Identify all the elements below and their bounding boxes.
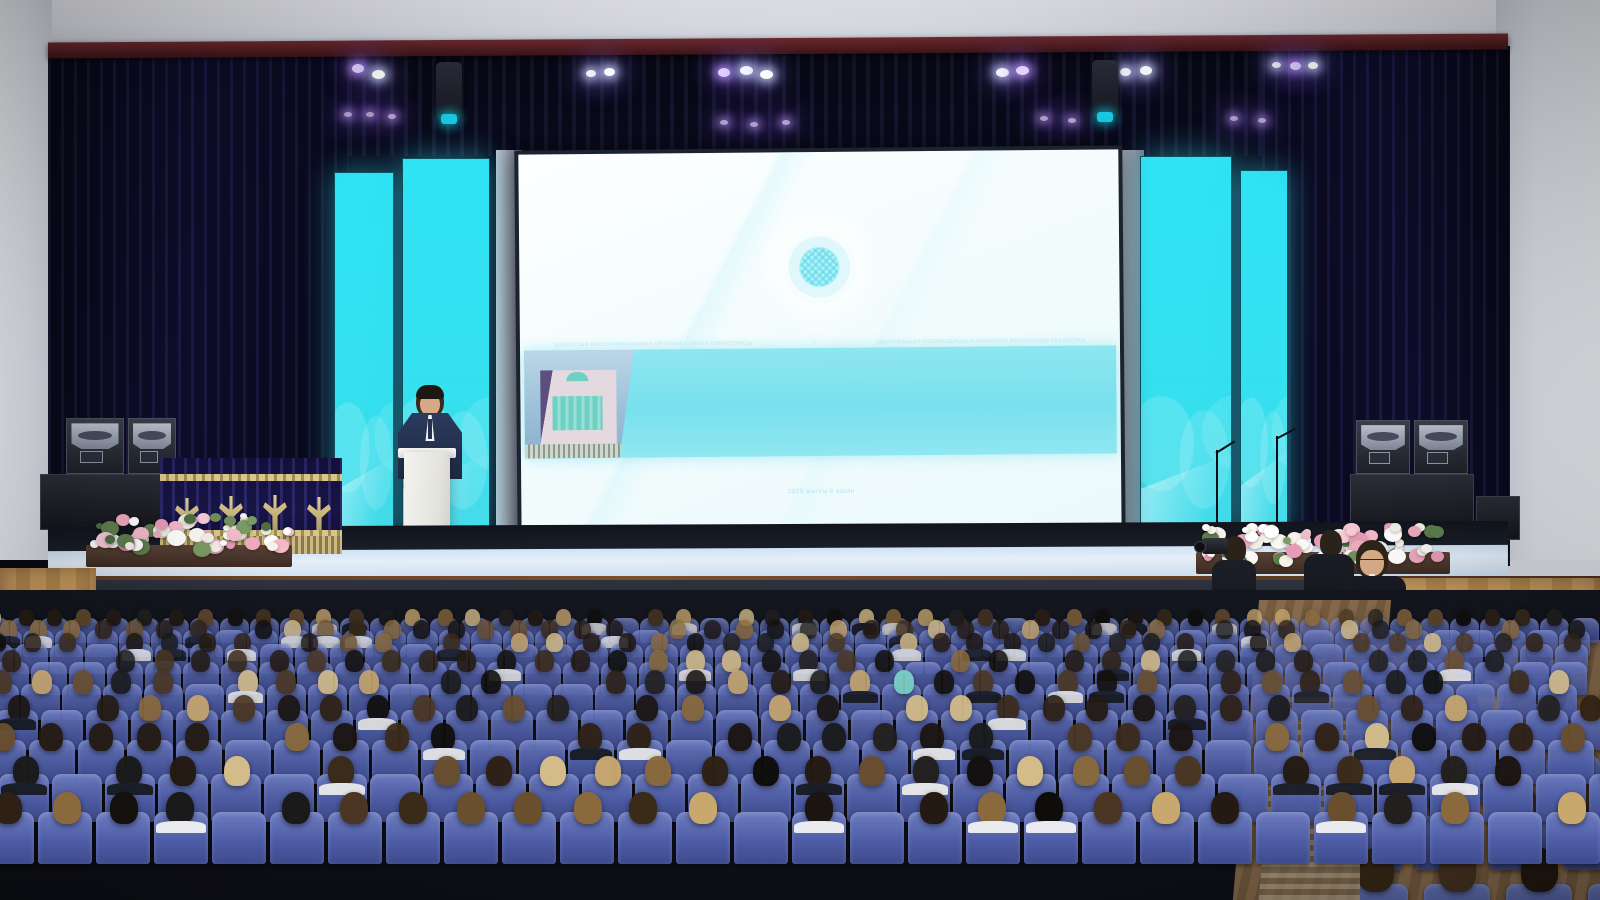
- foliage: [105, 535, 115, 544]
- audience-member-head: [282, 792, 310, 824]
- theater-seat[interactable]: [212, 812, 266, 864]
- flower: [125, 542, 134, 550]
- foliage: [1283, 537, 1291, 544]
- stage-light: [760, 70, 773, 79]
- audience-member-head: [805, 792, 833, 824]
- stage-light-secondary: [750, 122, 758, 127]
- pa-horn-icon: [1361, 425, 1405, 450]
- stage-light-secondary: [344, 112, 352, 117]
- presentation-slide: ҚАЗАҚСТАН РЕСПУБЛИКАСЫНЫҢ ОРТАЛЫҚ САЙЛАУ…: [518, 149, 1121, 544]
- audience-member-head: [514, 792, 542, 824]
- audience-member-head: [1441, 792, 1469, 824]
- flower: [227, 529, 241, 541]
- building-glass: [552, 396, 602, 430]
- stage-light: [1140, 66, 1152, 75]
- presenter-tie: [428, 419, 432, 439]
- audience-member-head: [340, 792, 368, 824]
- main-projection-screen: ҚАЗАҚСТАН РЕСПУБЛИКАСЫНЫҢ ОРТАЛЫҚ САЙЛАУ…: [514, 145, 1125, 550]
- audience-member-head: [399, 792, 427, 824]
- flower: [153, 531, 161, 538]
- flower: [167, 530, 186, 546]
- stage-curtain-valance: [348, 46, 1262, 156]
- foliage: [210, 513, 221, 522]
- stage-light-secondary: [782, 120, 790, 125]
- flower: [1421, 544, 1432, 553]
- building-dome: [566, 372, 588, 381]
- stage-light: [740, 66, 753, 75]
- flower: [283, 528, 291, 535]
- stage-light-secondary: [1230, 116, 1238, 121]
- led-panel-right-inner: [1140, 156, 1232, 540]
- stage-light-secondary: [1068, 118, 1076, 123]
- stage-light: [1016, 66, 1029, 75]
- flower: [1408, 526, 1421, 537]
- flower: [1264, 525, 1279, 538]
- stage-light: [372, 70, 385, 79]
- cec-building-photo: [524, 350, 635, 459]
- right-wall: [1496, 0, 1600, 580]
- audience-member-shoulders: [156, 821, 206, 833]
- audience-member-head: [166, 792, 194, 824]
- stage-light-secondary: [366, 112, 374, 117]
- stage-light: [604, 68, 615, 76]
- audience-member-head: [629, 792, 657, 824]
- audience-seating-area: [0, 590, 1600, 900]
- pa-port: [140, 451, 158, 463]
- moving-head-light-fixture: [1092, 60, 1118, 118]
- eyeglasses-icon: [1359, 559, 1385, 562]
- theater-seat[interactable]: [850, 812, 904, 864]
- flower: [129, 517, 139, 526]
- pa-port: [80, 451, 102, 463]
- stage-light: [352, 64, 364, 73]
- moving-head-light-fixture: [436, 62, 462, 120]
- audience-member-shoulders: [794, 821, 844, 833]
- flower: [155, 519, 168, 530]
- flower: [1431, 551, 1444, 562]
- stage-light: [1272, 62, 1281, 68]
- foliage: [247, 516, 257, 525]
- stage-light-secondary: [720, 120, 728, 125]
- audience-member-head: [689, 792, 717, 824]
- audience-member-head: [1211, 792, 1239, 824]
- audience-member-shoulders: [1026, 821, 1076, 833]
- man-glasses-face: [1360, 550, 1384, 576]
- kazakhstan-state-emblem-icon: [782, 230, 857, 305]
- led-panel-right-outer: [1240, 170, 1288, 534]
- audience-row: [0, 778, 1600, 870]
- camcorder-icon: [1202, 538, 1228, 554]
- pa-speaker-right-1: [1356, 420, 1410, 474]
- foliage: [184, 514, 196, 524]
- flower: [220, 540, 227, 546]
- building-fence: [525, 444, 635, 459]
- slide-header-separator: •: [814, 340, 816, 346]
- theater-seat[interactable]: [1256, 812, 1310, 864]
- audience-member-head: [1384, 792, 1412, 824]
- foliage: [261, 522, 271, 531]
- stage-light: [996, 68, 1009, 77]
- presenter-hair: [416, 385, 444, 399]
- audience-member-head: [1152, 792, 1180, 824]
- flower: [197, 513, 210, 524]
- flower: [226, 541, 235, 549]
- stage-light-secondary: [1258, 118, 1266, 123]
- pa-horn-icon: [71, 423, 118, 449]
- audience-member-head: [574, 792, 602, 824]
- pa-horn-icon: [1419, 425, 1463, 450]
- stage-light-secondary: [1040, 116, 1048, 121]
- stage-light: [1290, 62, 1301, 70]
- gold-braid-trim: [160, 474, 342, 481]
- audience-member-head: [0, 792, 22, 824]
- audience-member-shoulders: [1316, 821, 1366, 833]
- pa-horn-icon: [133, 423, 172, 449]
- audience-member-head: [1094, 792, 1122, 824]
- flower: [240, 513, 247, 519]
- stage-light: [718, 68, 730, 77]
- audience-member-head: [457, 792, 485, 824]
- audience-member-head: [110, 792, 138, 824]
- slide-title-band: ҚР ОСК ТӨРАҒАСЫ ЗАҢ ҒЫЛЫМДАРЫНЫҢ ДОКТОРЫ…: [524, 345, 1117, 458]
- audience-member-head: [1328, 792, 1356, 824]
- conference-hall-photo: ҚАЗАҚСТАН РЕСПУБЛИКАСЫНЫҢ ОРТАЛЫҚ САЙЛАУ…: [0, 0, 1600, 900]
- audience-member-head: [1558, 792, 1586, 824]
- flower: [267, 542, 278, 551]
- audience-member-head: [978, 792, 1006, 824]
- theater-seat[interactable]: [1488, 812, 1542, 864]
- audience-member-shoulders: [968, 821, 1018, 833]
- foliage: [224, 516, 236, 526]
- pa-port: [1427, 452, 1448, 463]
- foliage: [1430, 526, 1444, 538]
- pa-port: [1369, 452, 1390, 463]
- audience-member-head: [53, 792, 81, 824]
- stage-light-secondary: [388, 114, 396, 119]
- stage-light: [1120, 68, 1131, 76]
- audience-member-head: [1035, 792, 1063, 824]
- audience-member-head: [920, 792, 948, 824]
- flower-arrangement-left: [84, 512, 298, 554]
- flower: [116, 514, 130, 526]
- theater-seat[interactable]: [734, 812, 788, 864]
- theater-seat[interactable]: [1588, 884, 1600, 900]
- pa-speaker-left-1: [66, 418, 124, 474]
- flower: [245, 537, 260, 550]
- foliage: [193, 542, 211, 557]
- stage-light: [1308, 62, 1318, 69]
- pa-speaker-right-2: [1414, 420, 1468, 474]
- stage-light: [586, 70, 596, 77]
- flower: [1390, 523, 1401, 532]
- led-panel-left-outer: [334, 172, 394, 540]
